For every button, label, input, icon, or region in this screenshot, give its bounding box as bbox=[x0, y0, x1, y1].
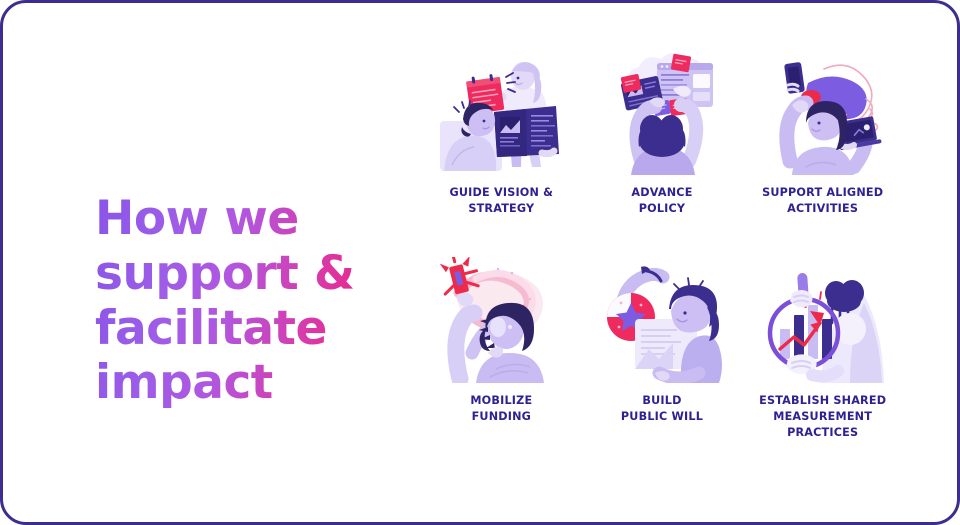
public-will-illustration bbox=[597, 257, 727, 383]
card-support-aligned-activities[interactable]: Support aligned activities bbox=[744, 49, 901, 233]
card-label: Guide vision & strategy bbox=[450, 185, 554, 217]
card-label: Advance policy bbox=[631, 185, 692, 217]
aligned-activities-illustration bbox=[758, 49, 888, 175]
card-label: Establish shared measurement practices bbox=[759, 393, 886, 442]
measurement-practices-illustration bbox=[758, 257, 888, 383]
card-label: Mobilize funding bbox=[470, 393, 532, 425]
vision-strategy-illustration bbox=[436, 49, 566, 175]
card-label: Build public will bbox=[621, 393, 703, 425]
card-guide-vision-strategy[interactable]: Guide vision & strategy bbox=[423, 49, 580, 233]
card-build-public-will[interactable]: Build public will bbox=[584, 257, 741, 441]
mobilize-funding-illustration bbox=[436, 257, 566, 383]
page-title: How we support & facilitate impact bbox=[95, 192, 395, 410]
pillars-grid: Guide vision & strategy bbox=[423, 49, 901, 469]
advance-policy-illustration bbox=[597, 49, 727, 175]
slide-canvas: How we support & facilitate impact bbox=[0, 0, 960, 525]
card-mobilize-funding[interactable]: Mobilize funding bbox=[423, 257, 580, 441]
card-label: Support aligned activities bbox=[762, 185, 883, 217]
card-establish-shared-measurement-practices[interactable]: Establish shared measurement practices bbox=[744, 257, 901, 441]
card-advance-policy[interactable]: Advance policy bbox=[584, 49, 741, 233]
